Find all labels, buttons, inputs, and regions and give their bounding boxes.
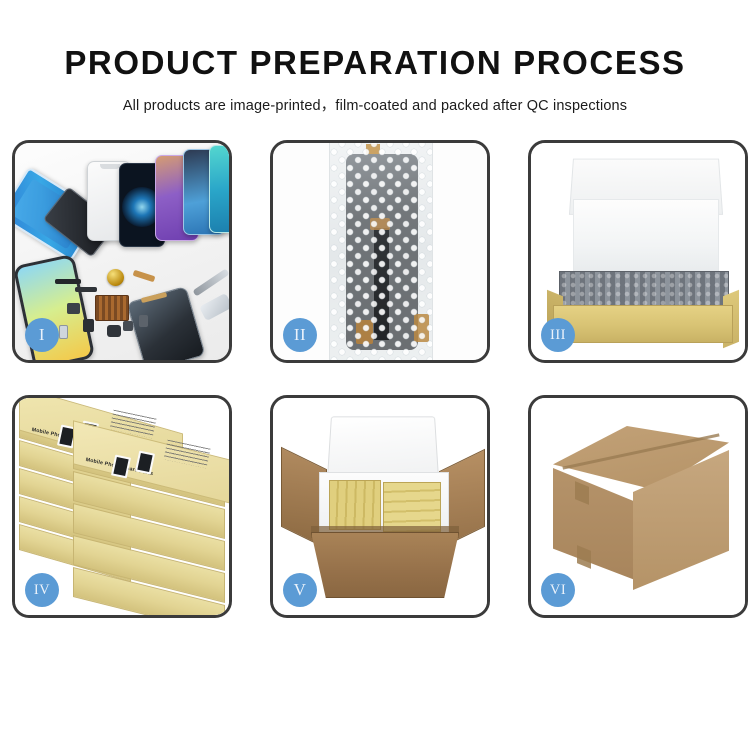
process-step-2[interactable]: II	[270, 140, 490, 363]
process-step-3[interactable]: III	[528, 140, 748, 363]
step-badge-5: V	[283, 573, 317, 607]
process-step-6[interactable]: VI	[528, 395, 748, 618]
step-badge-2: II	[283, 318, 317, 352]
product-preparation-infographic: PRODUCT PREPARATION PROCESS All products…	[0, 0, 750, 750]
bubble-wrap-bag-icon	[329, 143, 433, 360]
speaker-module-icon	[107, 269, 124, 286]
styrofoam-lid-icon	[327, 416, 439, 480]
step-badge-3: III	[541, 318, 575, 352]
carton-front-icon	[311, 532, 459, 598]
process-step-grid: I II	[12, 140, 738, 618]
small-part-2-icon	[83, 319, 94, 332]
process-step-5[interactable]: V	[270, 395, 490, 618]
small-part-1-icon	[67, 303, 80, 314]
carton-left-face-icon	[553, 468, 635, 580]
page-subtitle: All products are image-printed，film-coat…	[0, 99, 750, 114]
header: PRODUCT PREPARATION PROCESS All products…	[0, 0, 750, 114]
foam-liner-icon	[573, 199, 719, 277]
small-part-3-icon	[107, 325, 121, 337]
step-badge-4: IV	[25, 573, 59, 607]
process-row-top: I II	[12, 140, 738, 363]
process-step-1[interactable]: I	[12, 140, 232, 363]
small-part-5-icon	[59, 325, 68, 339]
tweezers-icon	[192, 268, 229, 296]
flex-cable-c-icon	[75, 287, 97, 292]
yellow-boxes-left-icon	[329, 480, 381, 530]
process-step-4[interactable]: Mobile Phone Spare Parts Mobile Phone Sp…	[12, 395, 232, 618]
chip-grid-icon	[95, 295, 129, 321]
step-badge-6: VI	[541, 573, 575, 607]
kraft-box-front-icon	[553, 305, 733, 343]
small-part-4-icon	[123, 321, 133, 331]
step-badge-1: I	[25, 318, 59, 352]
bubble-texture-icon	[330, 143, 432, 360]
repair-tool-icon	[199, 293, 229, 321]
teal-display-phone-icon	[209, 145, 229, 233]
small-part-6-icon	[139, 315, 148, 327]
antenna-strip-icon	[55, 279, 81, 284]
flex-cable-a-icon	[133, 270, 156, 283]
process-row-bottom: Mobile Phone Spare Parts Mobile Phone Sp…	[12, 395, 738, 618]
page-title: PRODUCT PREPARATION PROCESS	[0, 46, 750, 79]
yellow-boxes-right-icon	[383, 482, 441, 532]
